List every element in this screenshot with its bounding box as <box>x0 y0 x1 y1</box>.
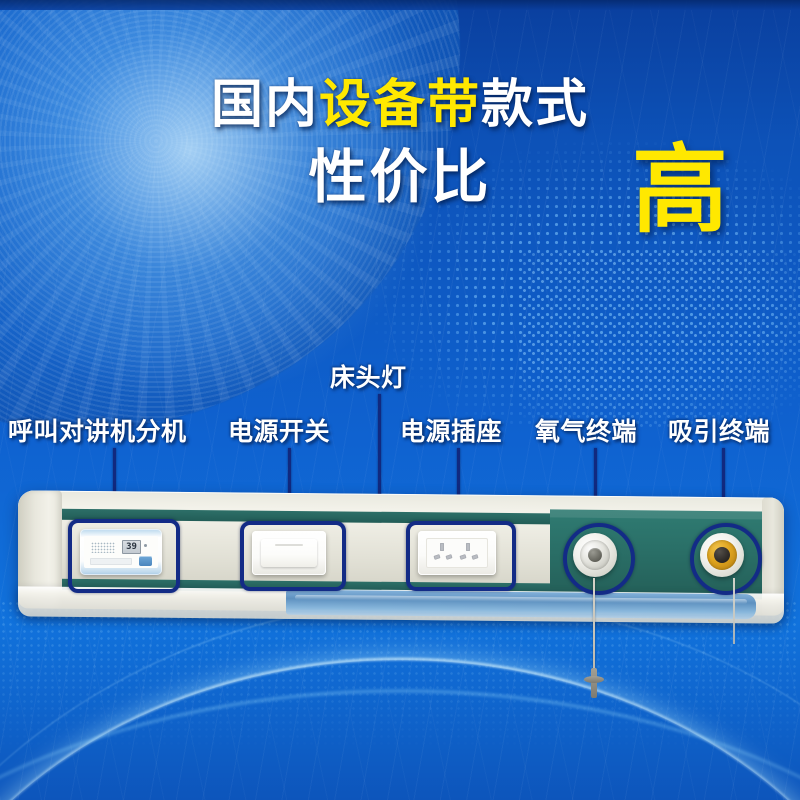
highlight-box-power-socket <box>406 521 516 591</box>
callout-bed-lamp-label: 床头灯 <box>330 358 407 394</box>
highlight-box-power-switch <box>240 521 346 591</box>
cord-pull-handle-icon[interactable] <box>583 668 605 698</box>
highlight-box-intercom <box>68 519 180 593</box>
suction-hose-cord <box>733 578 735 644</box>
callout-power-socket-label: 电源插座 <box>400 412 502 448</box>
callout-power-switch-label: 电源开关 <box>228 412 330 448</box>
highlight-circle-oxygen <box>563 523 635 595</box>
callout-suction-label: 吸引终端 <box>668 412 770 448</box>
oxygen-hose-cord <box>593 578 595 674</box>
highlight-circle-suction <box>690 523 762 595</box>
halftone-dot-field-secondary <box>520 250 800 430</box>
promo-banner: 国内设备带款式 性价比 高 呼叫对讲机分机 床头灯 电源开关 电源插座 氧气终端… <box>0 0 800 800</box>
callout-oxygen-label: 氧气终端 <box>535 412 637 448</box>
callout-intercom-label: 呼叫对讲机分机 <box>8 412 187 448</box>
panel-bottom-rail-blue-insert <box>286 590 756 620</box>
headline-emphasis-high: 高 <box>632 142 728 238</box>
top-band <box>0 0 800 10</box>
